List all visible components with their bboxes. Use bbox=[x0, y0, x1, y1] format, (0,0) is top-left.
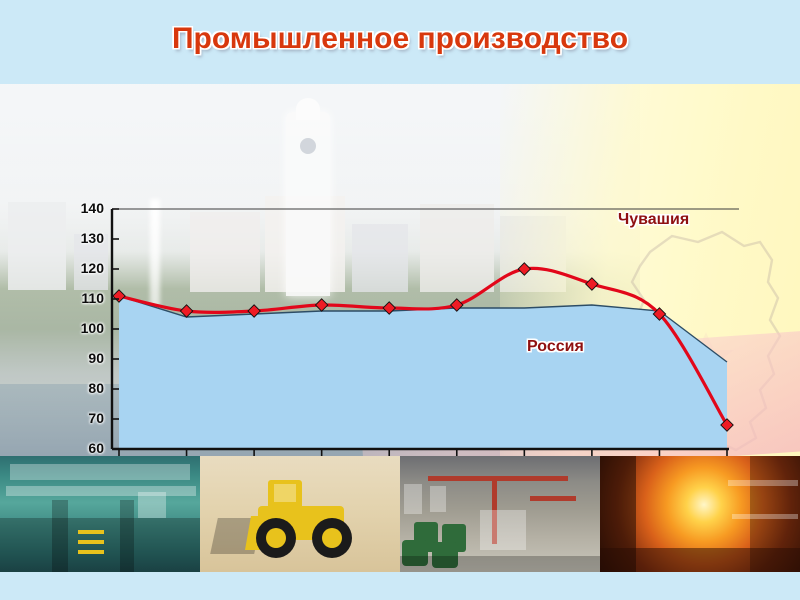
y-axis-tick-label: 110 bbox=[60, 290, 104, 306]
y-axis-tick-label: 140 bbox=[60, 200, 104, 216]
industrial-production-chart: 6070809010011012013014020002001200220032… bbox=[0, 84, 800, 456]
y-axis-tick-label: 100 bbox=[60, 320, 104, 336]
series-annotation-chuvashia: Чувашия bbox=[618, 211, 689, 229]
y-axis-tick-label: 80 bbox=[60, 380, 104, 396]
wheel-loader-photo bbox=[200, 456, 400, 572]
photo-strip bbox=[0, 456, 800, 572]
bottom-band bbox=[0, 572, 800, 600]
chart-canvas bbox=[0, 84, 800, 456]
paper-machine-photo bbox=[0, 456, 200, 572]
foundry-furnace-photo bbox=[600, 456, 800, 572]
page-title: Промышленное производство bbox=[0, 22, 800, 56]
y-axis-tick-label: 60 bbox=[60, 440, 104, 456]
y-axis-tick-label: 130 bbox=[60, 230, 104, 246]
series-annotation-russia: Россия bbox=[527, 338, 584, 356]
y-axis-tick-label: 120 bbox=[60, 260, 104, 276]
y-axis-tick-label: 90 bbox=[60, 350, 104, 366]
slide-root: Промышленное производство 60708090100110… bbox=[0, 0, 800, 600]
factory-interior-photo bbox=[400, 456, 600, 572]
content-panel: 6070809010011012013014020002001200220032… bbox=[0, 84, 800, 456]
title-band: Промышленное производство bbox=[0, 0, 800, 84]
y-axis-tick-label: 70 bbox=[60, 410, 104, 426]
